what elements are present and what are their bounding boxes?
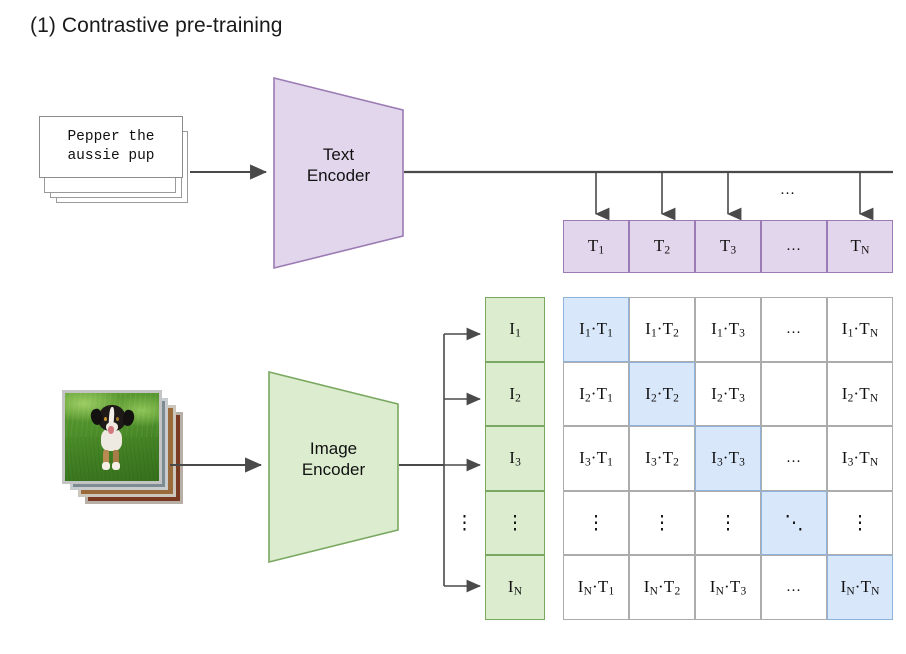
image-embedding-cell-5[interactable]: IN: [485, 555, 545, 620]
similarity-cell-r5-c4[interactable]: …: [761, 555, 827, 620]
similarity-cell-r3-c3[interactable]: I3·T3: [695, 426, 761, 491]
text-embedding-label: T3: [720, 236, 736, 257]
similarity-cell-r2-c3[interactable]: I2·T3: [695, 362, 761, 427]
text-caption: Pepper the aussie pup: [40, 117, 182, 177]
similarity-cell-label: I2·T1: [579, 384, 613, 405]
similarity-cell-r1-c3[interactable]: I1·T3: [695, 297, 761, 362]
similarity-cell-r3-c1[interactable]: I3·T1: [563, 426, 629, 491]
image-embedding-label: IN: [508, 577, 522, 598]
similarity-cell-r4-c4[interactable]: ⋱: [761, 491, 827, 556]
similarity-cell-r4-c2[interactable]: ⋮: [629, 491, 695, 556]
similarity-cell-label: I2·TN: [842, 384, 878, 405]
similarity-cell-label: I3·T3: [711, 448, 745, 469]
similarity-cell-r2-c1[interactable]: I2·T1: [563, 362, 629, 427]
similarity-cell-r5-c2[interactable]: IN·T2: [629, 555, 695, 620]
similarity-cell-label: I1·T2: [645, 319, 679, 340]
image-card-front: [62, 390, 162, 484]
page-title: (1) Contrastive pre-training: [30, 14, 283, 38]
similarity-cell-r4-c3[interactable]: ⋮: [695, 491, 761, 556]
similarity-cell-label: ⋮: [587, 514, 606, 533]
puppy-illustration: [89, 405, 134, 468]
similarity-cell-label: IN·T3: [710, 577, 746, 598]
text-card-front: Pepper the aussie pup: [39, 116, 183, 178]
similarity-cell-label: …: [786, 450, 802, 467]
text-embedding-label: T2: [654, 236, 670, 257]
similarity-cell-r5-c5[interactable]: IN·TN: [827, 555, 893, 620]
text-embedding-cell-1[interactable]: T1: [563, 220, 629, 273]
image-embedding-label: I2: [509, 384, 521, 405]
similarity-cell-r4-c5[interactable]: ⋮: [827, 491, 893, 556]
similarity-cell-label: I2·T3: [711, 384, 745, 405]
text-bus-ellipsis: …: [780, 182, 796, 199]
similarity-cell-r1-c2[interactable]: I1·T2: [629, 297, 695, 362]
similarity-cell-label: ⋮: [719, 514, 738, 533]
similarity-cell-r3-c2[interactable]: I3·T2: [629, 426, 695, 491]
similarity-cell-label: …: [786, 579, 802, 596]
similarity-cell-label: I3·T2: [645, 448, 679, 469]
text-embedding-cell-2[interactable]: T2: [629, 220, 695, 273]
similarity-cell-r2-c4[interactable]: [761, 362, 827, 427]
text-embedding-cell-5[interactable]: TN: [827, 220, 893, 273]
image-embedding-cell-2[interactable]: I2: [485, 362, 545, 427]
similarity-cell-label: I3·T1: [579, 448, 613, 469]
similarity-cell-r1-c1[interactable]: I1·T1: [563, 297, 629, 362]
similarity-cell-label: ⋱: [785, 514, 804, 533]
similarity-cell-label: IN·TN: [841, 577, 880, 598]
similarity-cell-label: IN·T2: [644, 577, 680, 598]
similarity-cell-r1-c4[interactable]: …: [761, 297, 827, 362]
similarity-cell-r4-c1[interactable]: ⋮: [563, 491, 629, 556]
image-embedding-cell-1[interactable]: I1: [485, 297, 545, 362]
image-embedding-cell-4[interactable]: ⋮: [485, 491, 545, 556]
image-embedding-label: ⋮: [506, 514, 525, 533]
similarity-cell-label: ⋮: [851, 514, 870, 533]
text-embedding-label: …: [786, 238, 802, 255]
text-encoder-block[interactable]: Text Encoder: [273, 77, 404, 269]
image-bus-ellipsis: ⋮: [455, 512, 475, 535]
similarity-cell-r3-c4[interactable]: …: [761, 426, 827, 491]
similarity-cell-label: I2·T2: [645, 384, 679, 405]
puppy-photo: [65, 393, 159, 481]
similarity-cell-label: I1·T3: [711, 319, 745, 340]
text-embedding-label: T1: [588, 236, 604, 257]
similarity-cell-r5-c1[interactable]: IN·T1: [563, 555, 629, 620]
similarity-cell-label: I1·T1: [579, 319, 613, 340]
similarity-cell-label: I3·TN: [842, 448, 878, 469]
similarity-cell-label: …: [786, 321, 802, 338]
similarity-cell-label: I1·TN: [842, 319, 878, 340]
caption-line-2: aussie pup: [67, 147, 154, 166]
similarity-cell-label: ⋮: [653, 514, 672, 533]
similarity-cell-r3-c5[interactable]: I3·TN: [827, 426, 893, 491]
text-embedding-cell-3[interactable]: T3: [695, 220, 761, 273]
similarity-cell-r2-c2[interactable]: I2·T2: [629, 362, 695, 427]
similarity-cell-r2-c5[interactable]: I2·TN: [827, 362, 893, 427]
image-encoder-block[interactable]: Image Encoder: [268, 371, 399, 563]
image-embedding-label: I1: [509, 319, 521, 340]
figure-canvas: (1) Contrastive pre-training Pepper the …: [0, 0, 906, 654]
similarity-cell-label: IN·T1: [578, 577, 614, 598]
image-embedding-label: I3: [509, 448, 521, 469]
caption-line-1: Pepper the: [67, 128, 154, 147]
image-embedding-cell-3[interactable]: I3: [485, 426, 545, 491]
similarity-cell-r1-c5[interactable]: I1·TN: [827, 297, 893, 362]
text-embedding-label: TN: [851, 236, 870, 257]
similarity-cell-r5-c3[interactable]: IN·T3: [695, 555, 761, 620]
text-embedding-cell-4[interactable]: …: [761, 220, 827, 273]
